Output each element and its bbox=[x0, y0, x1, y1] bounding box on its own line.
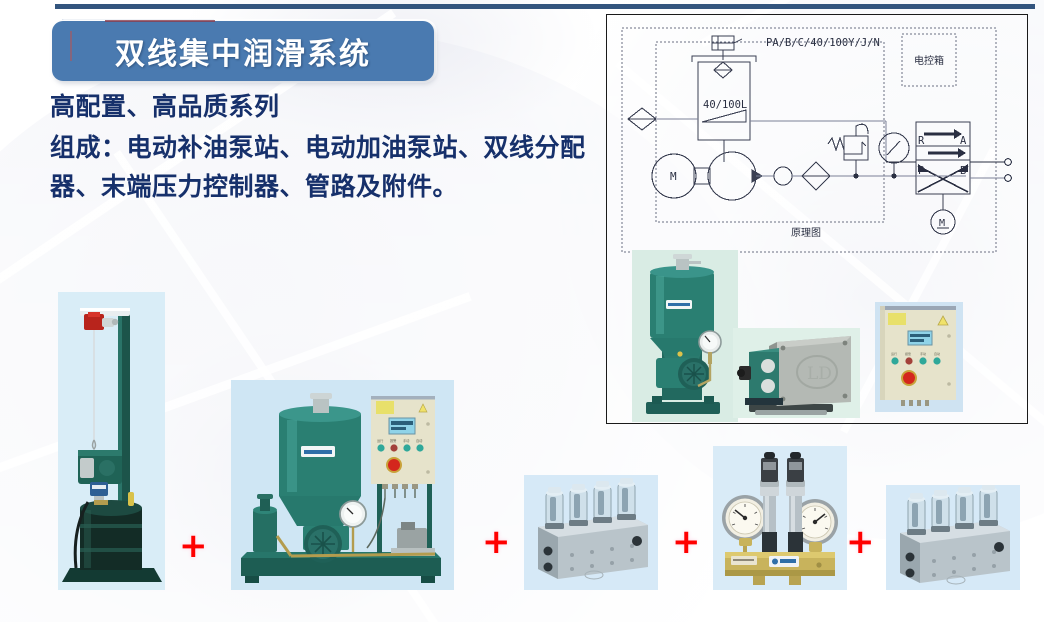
composition-paragraph: 组成：电动补油泵站、电动加油泵站、双线分配器、末端压力控制器、管路及附件。 bbox=[50, 128, 620, 206]
photo-dual-line-reverser-valve: LD bbox=[733, 328, 860, 418]
photo-terminal-pressure-controller bbox=[713, 446, 847, 590]
photo-dual-line-distributor bbox=[524, 475, 658, 590]
drum-pump-illustration bbox=[58, 292, 165, 590]
svg-text:手动: 手动 bbox=[920, 351, 926, 356]
schematic-port-label-p: P bbox=[918, 165, 924, 177]
schematic-caption: 原理图 bbox=[791, 227, 821, 239]
distributor-illustration-right bbox=[886, 485, 1020, 590]
separator-plus-4: + bbox=[846, 525, 875, 559]
svg-text:报警: 报警 bbox=[905, 351, 911, 356]
pump-station-illustration bbox=[632, 250, 738, 422]
pressure-controller-illustration bbox=[713, 446, 847, 590]
svg-text:运行: 运行 bbox=[377, 438, 384, 443]
photo-drum-mounted-refill-pump bbox=[58, 292, 165, 590]
schematic-control-box-label: 电控箱 bbox=[914, 54, 944, 67]
slide-canvas: 双线集中润滑系统 高配置、高品质系列 组成：电动补油泵站、电动加油泵站、双线分配… bbox=[0, 0, 1044, 622]
schematic-port-label-a: A bbox=[960, 135, 967, 147]
svg-text:手动: 手动 bbox=[403, 438, 409, 443]
page-title: 双线集中润滑系统 bbox=[52, 21, 434, 81]
svg-text:报警: 报警 bbox=[390, 438, 397, 443]
photo-pump-station-skid: 运行报警 手动自动 bbox=[231, 380, 454, 590]
photo-electric-control-cabinet: 运行报警 手动自动 bbox=[875, 302, 963, 412]
body-copy: 高配置、高品质系列 组成：电动补油泵站、电动加油泵站、双线分配器、末端压力控制器… bbox=[50, 90, 620, 206]
subtitle-line: 高配置、高品质系列 bbox=[50, 90, 620, 124]
reverser-valve-brand-mark: LD bbox=[807, 364, 832, 384]
separator-plus-3: + bbox=[672, 525, 701, 559]
reverser-valve-illustration: LD bbox=[733, 328, 860, 418]
schematic-port-label-r: R bbox=[918, 135, 925, 147]
control-cabinet-illustration: 运行报警 手动自动 bbox=[875, 302, 963, 412]
schematic-model-label: PA/B/C/40/100Y/J/N bbox=[766, 37, 880, 49]
svg-text:自动: 自动 bbox=[934, 351, 940, 356]
schematic-tank-capacity-label: 40/100L bbox=[703, 99, 747, 111]
schematic-motor-label: M bbox=[670, 170, 677, 183]
schematic-port-label-b: B bbox=[960, 165, 966, 177]
svg-text:自动: 自动 bbox=[416, 438, 422, 443]
distributor-illustration-left bbox=[524, 475, 658, 590]
separator-plus-2: + bbox=[482, 525, 511, 559]
pump-station-skid-illustration: 运行报警 手动自动 bbox=[231, 380, 454, 590]
svg-text:运行: 运行 bbox=[891, 351, 897, 356]
photo-electric-grease-pump-station bbox=[632, 250, 738, 422]
photo-dual-line-distributor-right bbox=[886, 485, 1020, 590]
schematic-reverser-motor-label: M bbox=[939, 218, 945, 229]
separator-plus-1: + bbox=[179, 529, 208, 563]
top-accent-bar bbox=[55, 4, 1035, 9]
